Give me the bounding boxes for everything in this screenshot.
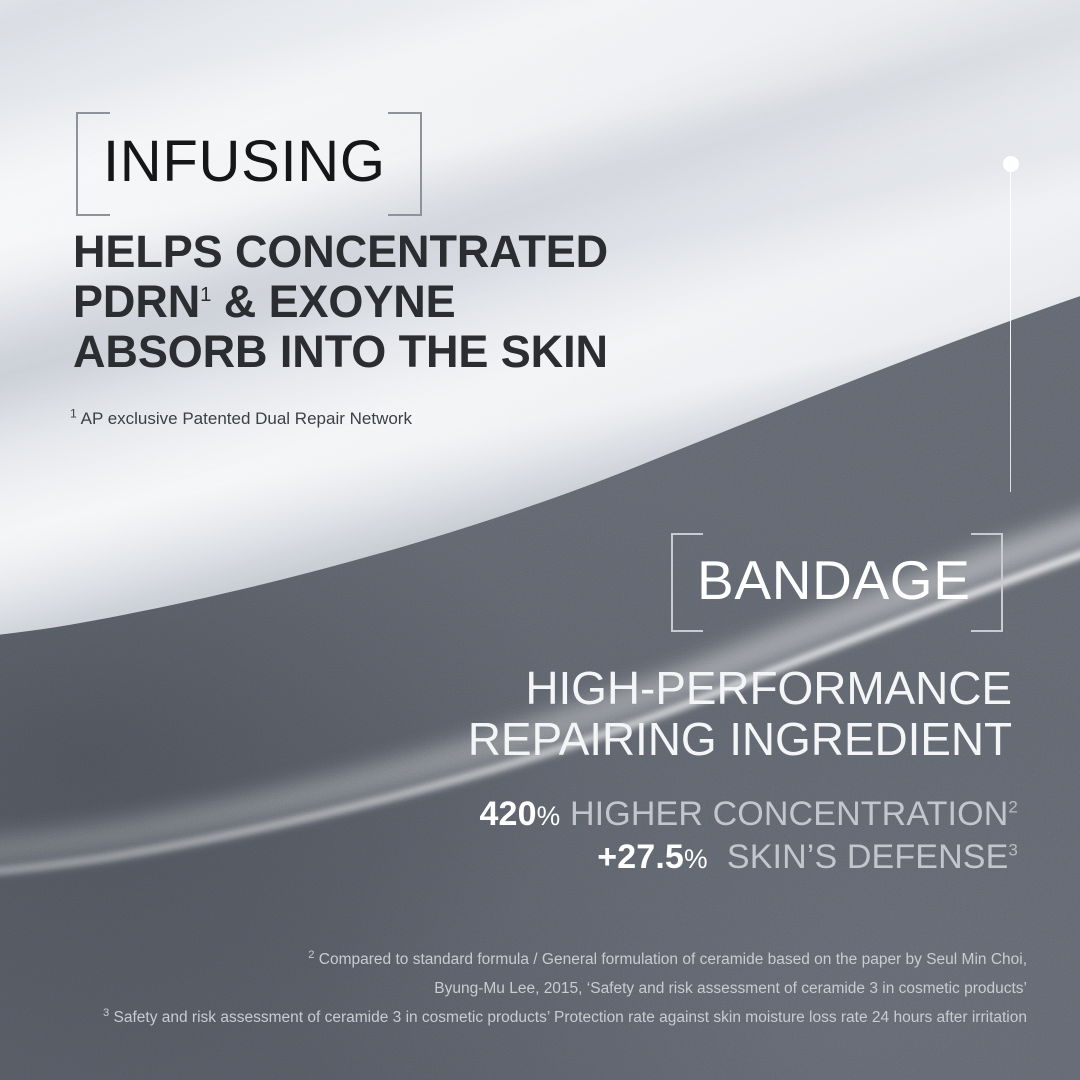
accent-leader-line — [1010, 170, 1011, 492]
bottom-headline-line-2: REPAIRING INGREDIENT — [468, 714, 1012, 765]
top-footnote: 1 AP exclusive Patented Dual Repair Netw… — [70, 407, 412, 432]
bottom-headline: HIGH-PERFORMANCE REPAIRING INGREDIENT — [468, 663, 1012, 766]
stat-label: HIGHER CONCENTRATION — [570, 795, 1008, 833]
footnote-text: Safety and risk assessment of ceramide 3… — [114, 1009, 1027, 1026]
footnote-text: Byung-Mu Lee, 2015, ‘Safety and risk ass… — [434, 980, 1027, 997]
headline-text: HELPS CONCENTRATED — [73, 226, 608, 277]
top-headline: HELPS CONCENTRATED PDRN1 & EXOYNE ABSORB… — [73, 227, 608, 378]
stat-line-2: +27.5% SKIN’S DEFENSE3 — [597, 838, 1018, 877]
footnote-marker: 2 — [308, 949, 314, 961]
stat-line-1: 420% HIGHER CONCENTRATION2 — [480, 795, 1018, 834]
stat-number: +27.5 — [597, 838, 684, 876]
stat-number: 420 — [480, 795, 537, 833]
bottom-footnote-3: 3 Safety and risk assessment of ceramide… — [103, 1007, 1027, 1029]
top-headline-line-3: ABSORB INTO THE SKIN — [73, 327, 608, 377]
stat-label: SKIN’S DEFENSE — [727, 838, 1009, 876]
top-headline-line-2: PDRN1 & EXOYNE — [73, 277, 608, 327]
footnote-marker: 2 — [1008, 798, 1018, 817]
footnote-text: Compared to standard formula / General f… — [319, 951, 1027, 968]
footnote-marker: 3 — [1008, 841, 1018, 860]
headline-text: ABSORB INTO THE SKIN — [73, 326, 608, 377]
headline-text: & EXOYNE — [211, 276, 455, 327]
headline-text: PDRN — [73, 276, 200, 327]
bottom-footnote-1: 2 Compared to standard formula / General… — [308, 949, 1027, 971]
footnote-text: AP exclusive Patented Dual Repair Networ… — [81, 409, 412, 428]
footnote-marker: 3 — [103, 1007, 109, 1019]
stat-percent: % — [537, 801, 561, 831]
bottom-footnote-2: Byung-Mu Lee, 2015, ‘Safety and risk ass… — [434, 978, 1027, 1000]
kicker-infusing: INFUSING — [103, 133, 386, 191]
product-claim-graphic: INFUSING HELPS CONCENTRATED PDRN1 & EXOY… — [0, 0, 1080, 1080]
stat-percent: % — [684, 844, 708, 874]
kicker-bandage: BANDAGE — [697, 553, 971, 608]
bottom-headline-line-1: HIGH-PERFORMANCE — [468, 663, 1012, 714]
footnote-marker: 1 — [70, 406, 77, 420]
top-headline-line-1: HELPS CONCENTRATED — [73, 227, 608, 277]
footnote-marker: 1 — [200, 284, 211, 306]
